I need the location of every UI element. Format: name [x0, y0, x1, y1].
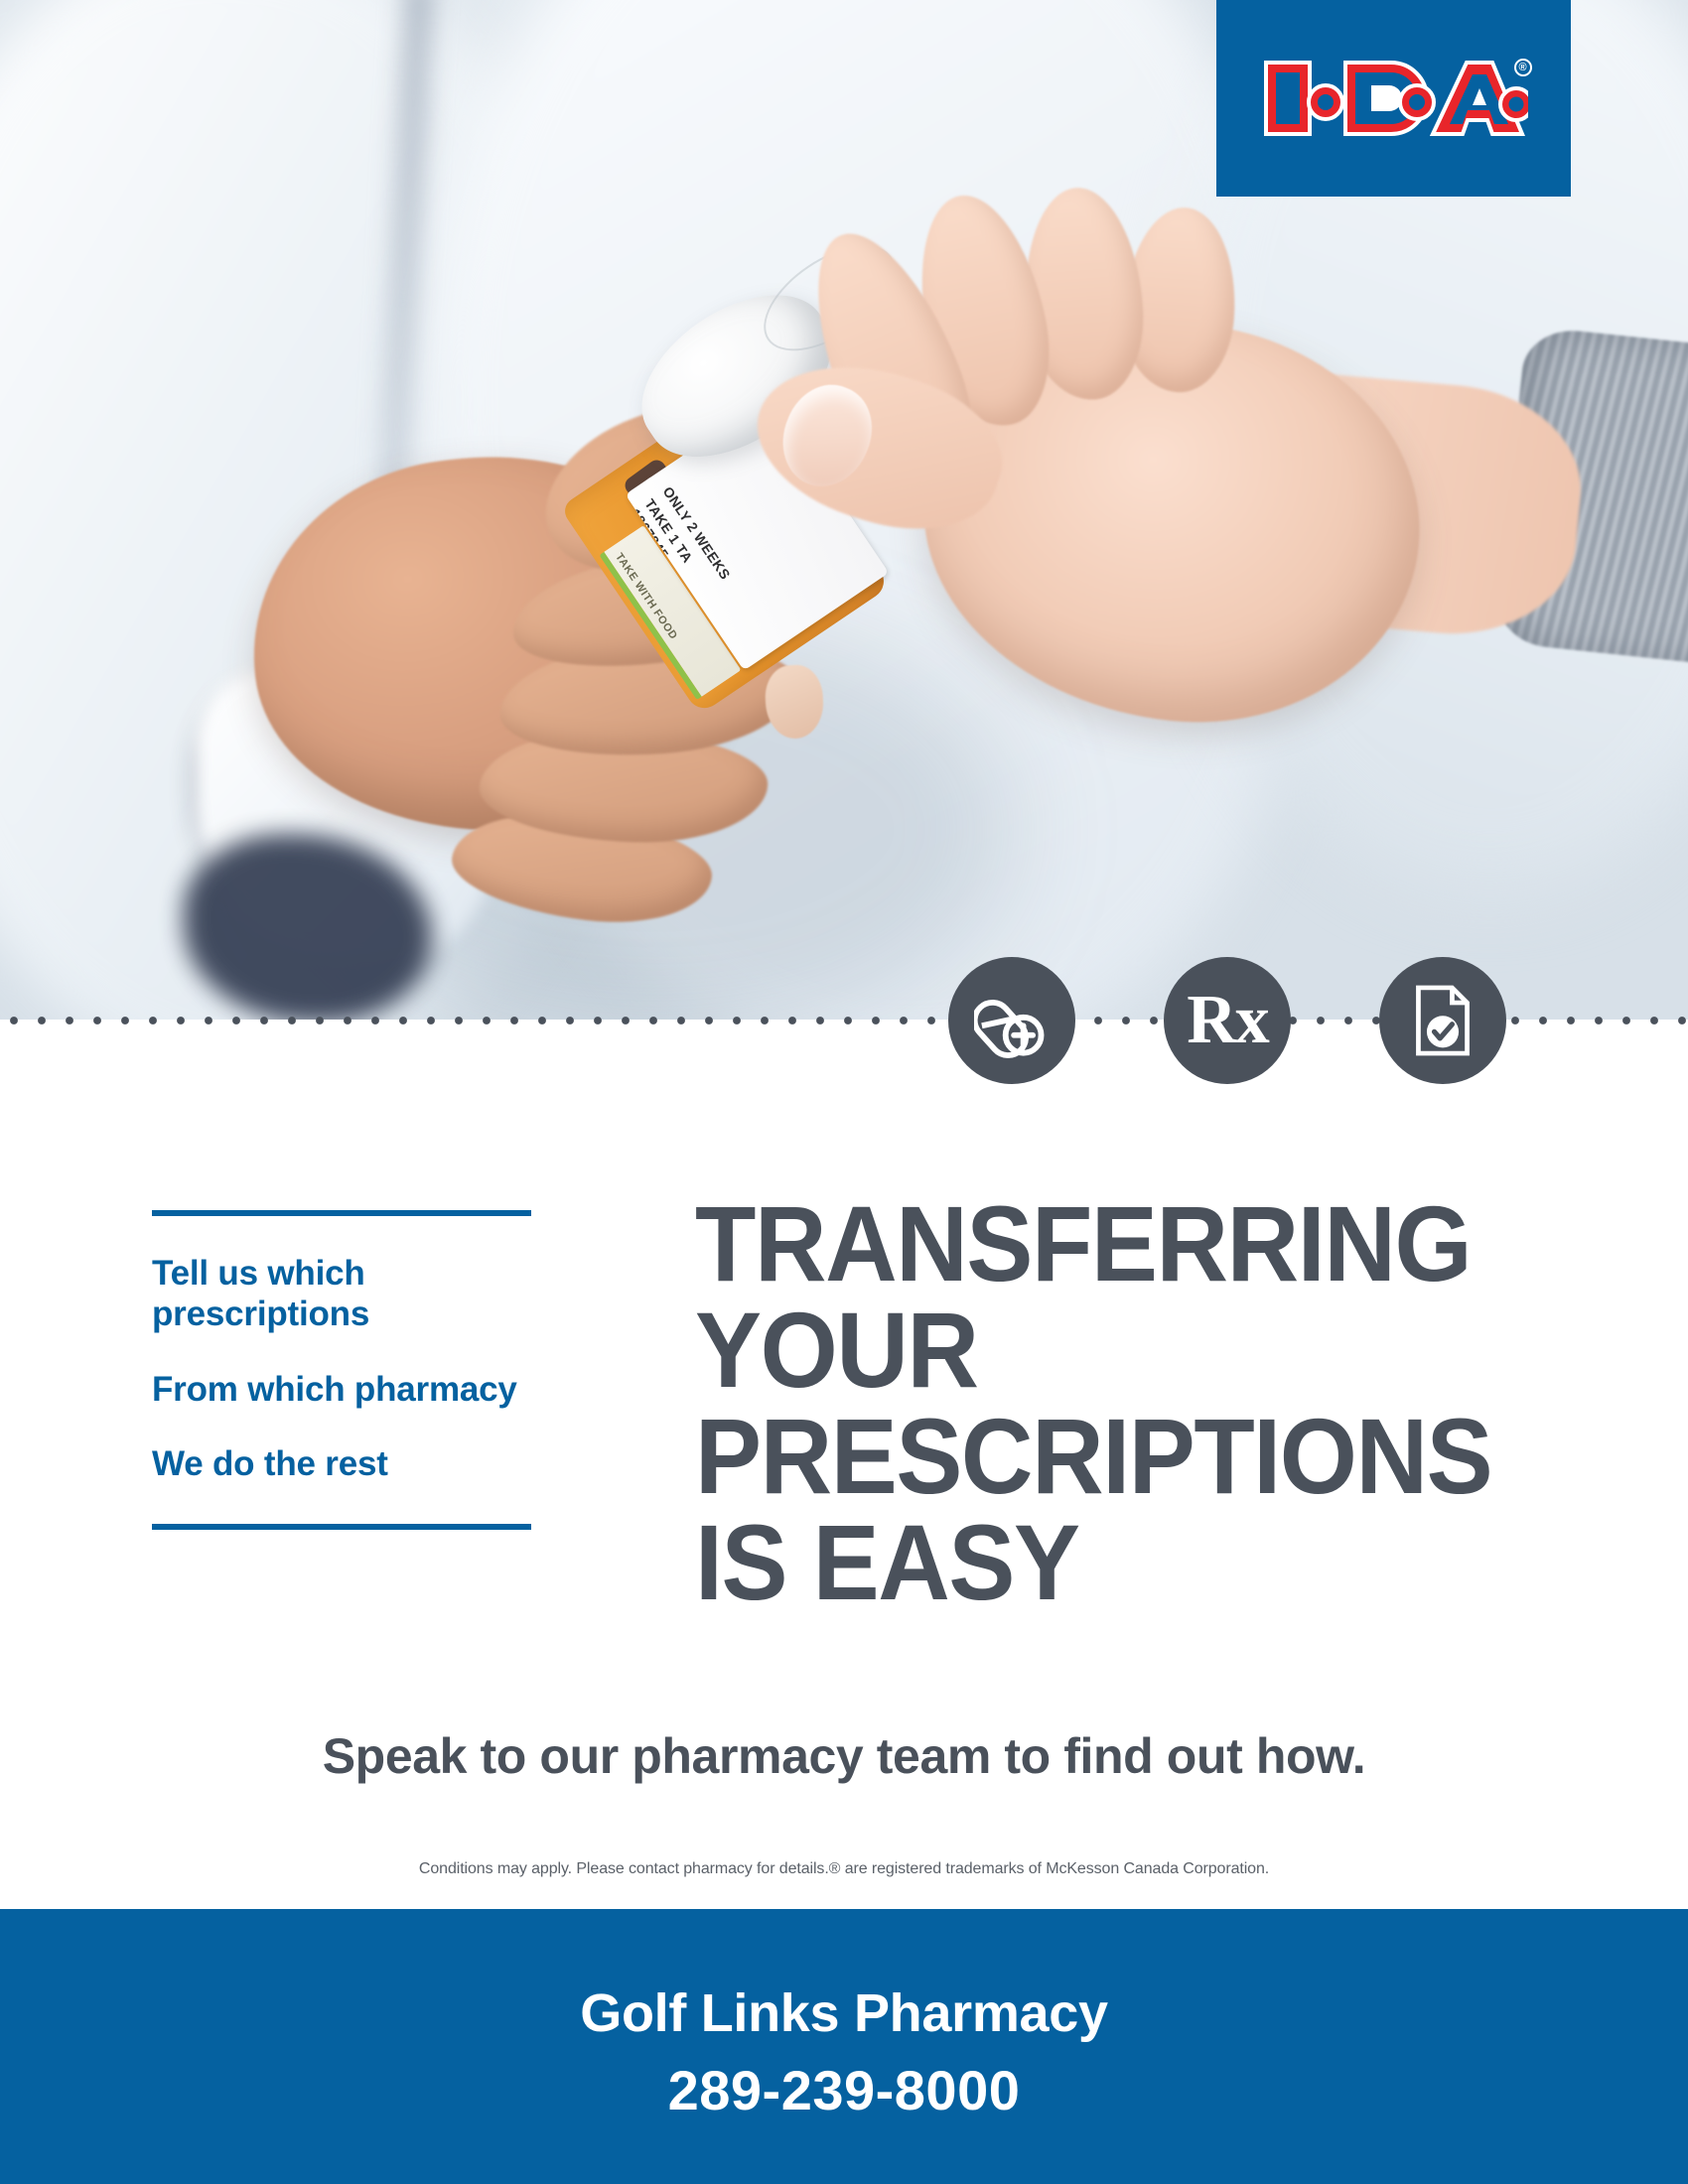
- pills-plus-glyph: [974, 983, 1050, 1058]
- headline-line-1: TRANSFERRING: [695, 1191, 1507, 1297]
- headline-line-3: PRESCRIPTIONS: [695, 1404, 1507, 1510]
- rx-glyph: Rx: [1187, 986, 1268, 1055]
- ida-logo-icon: [1260, 53, 1528, 144]
- disclaimer-text: Conditions may apply. Please contact pha…: [0, 1860, 1688, 1878]
- customer-hand: [774, 174, 1628, 789]
- ida-logo-mark: ®: [1260, 53, 1528, 144]
- pharmacy-phone[interactable]: 289-239-8000: [668, 2058, 1021, 2122]
- pills-plus-icon: [948, 957, 1075, 1084]
- tagline: Speak to our pharmacy team to find out h…: [0, 1727, 1688, 1785]
- steps-top-rule: [152, 1210, 531, 1216]
- ida-logo: ®: [1216, 0, 1571, 197]
- rx-icon: Rx: [1164, 957, 1291, 1084]
- step-item-2: From which pharmacy: [152, 1369, 531, 1410]
- pharmacy-name: Golf Links Pharmacy: [580, 1982, 1107, 2044]
- document-check-icon: [1379, 957, 1506, 1084]
- page-title: TRANSFERRING YOUR PRESCRIPTIONS IS EASY: [695, 1191, 1507, 1616]
- headline-line-4: IS EASY: [695, 1510, 1507, 1616]
- step-item-3: We do the rest: [152, 1443, 531, 1484]
- document-check-glyph: [1409, 983, 1477, 1058]
- footer-bar: Golf Links Pharmacy 289-239-8000: [0, 1909, 1688, 2184]
- steps-bottom-rule: [152, 1524, 531, 1530]
- headline-line-2: YOUR: [695, 1297, 1507, 1404]
- step-item-1: Tell us which prescriptions: [152, 1253, 531, 1335]
- registered-trademark-icon: ®: [1514, 59, 1532, 76]
- steps-list: Tell us which prescriptions From which p…: [152, 1210, 531, 1530]
